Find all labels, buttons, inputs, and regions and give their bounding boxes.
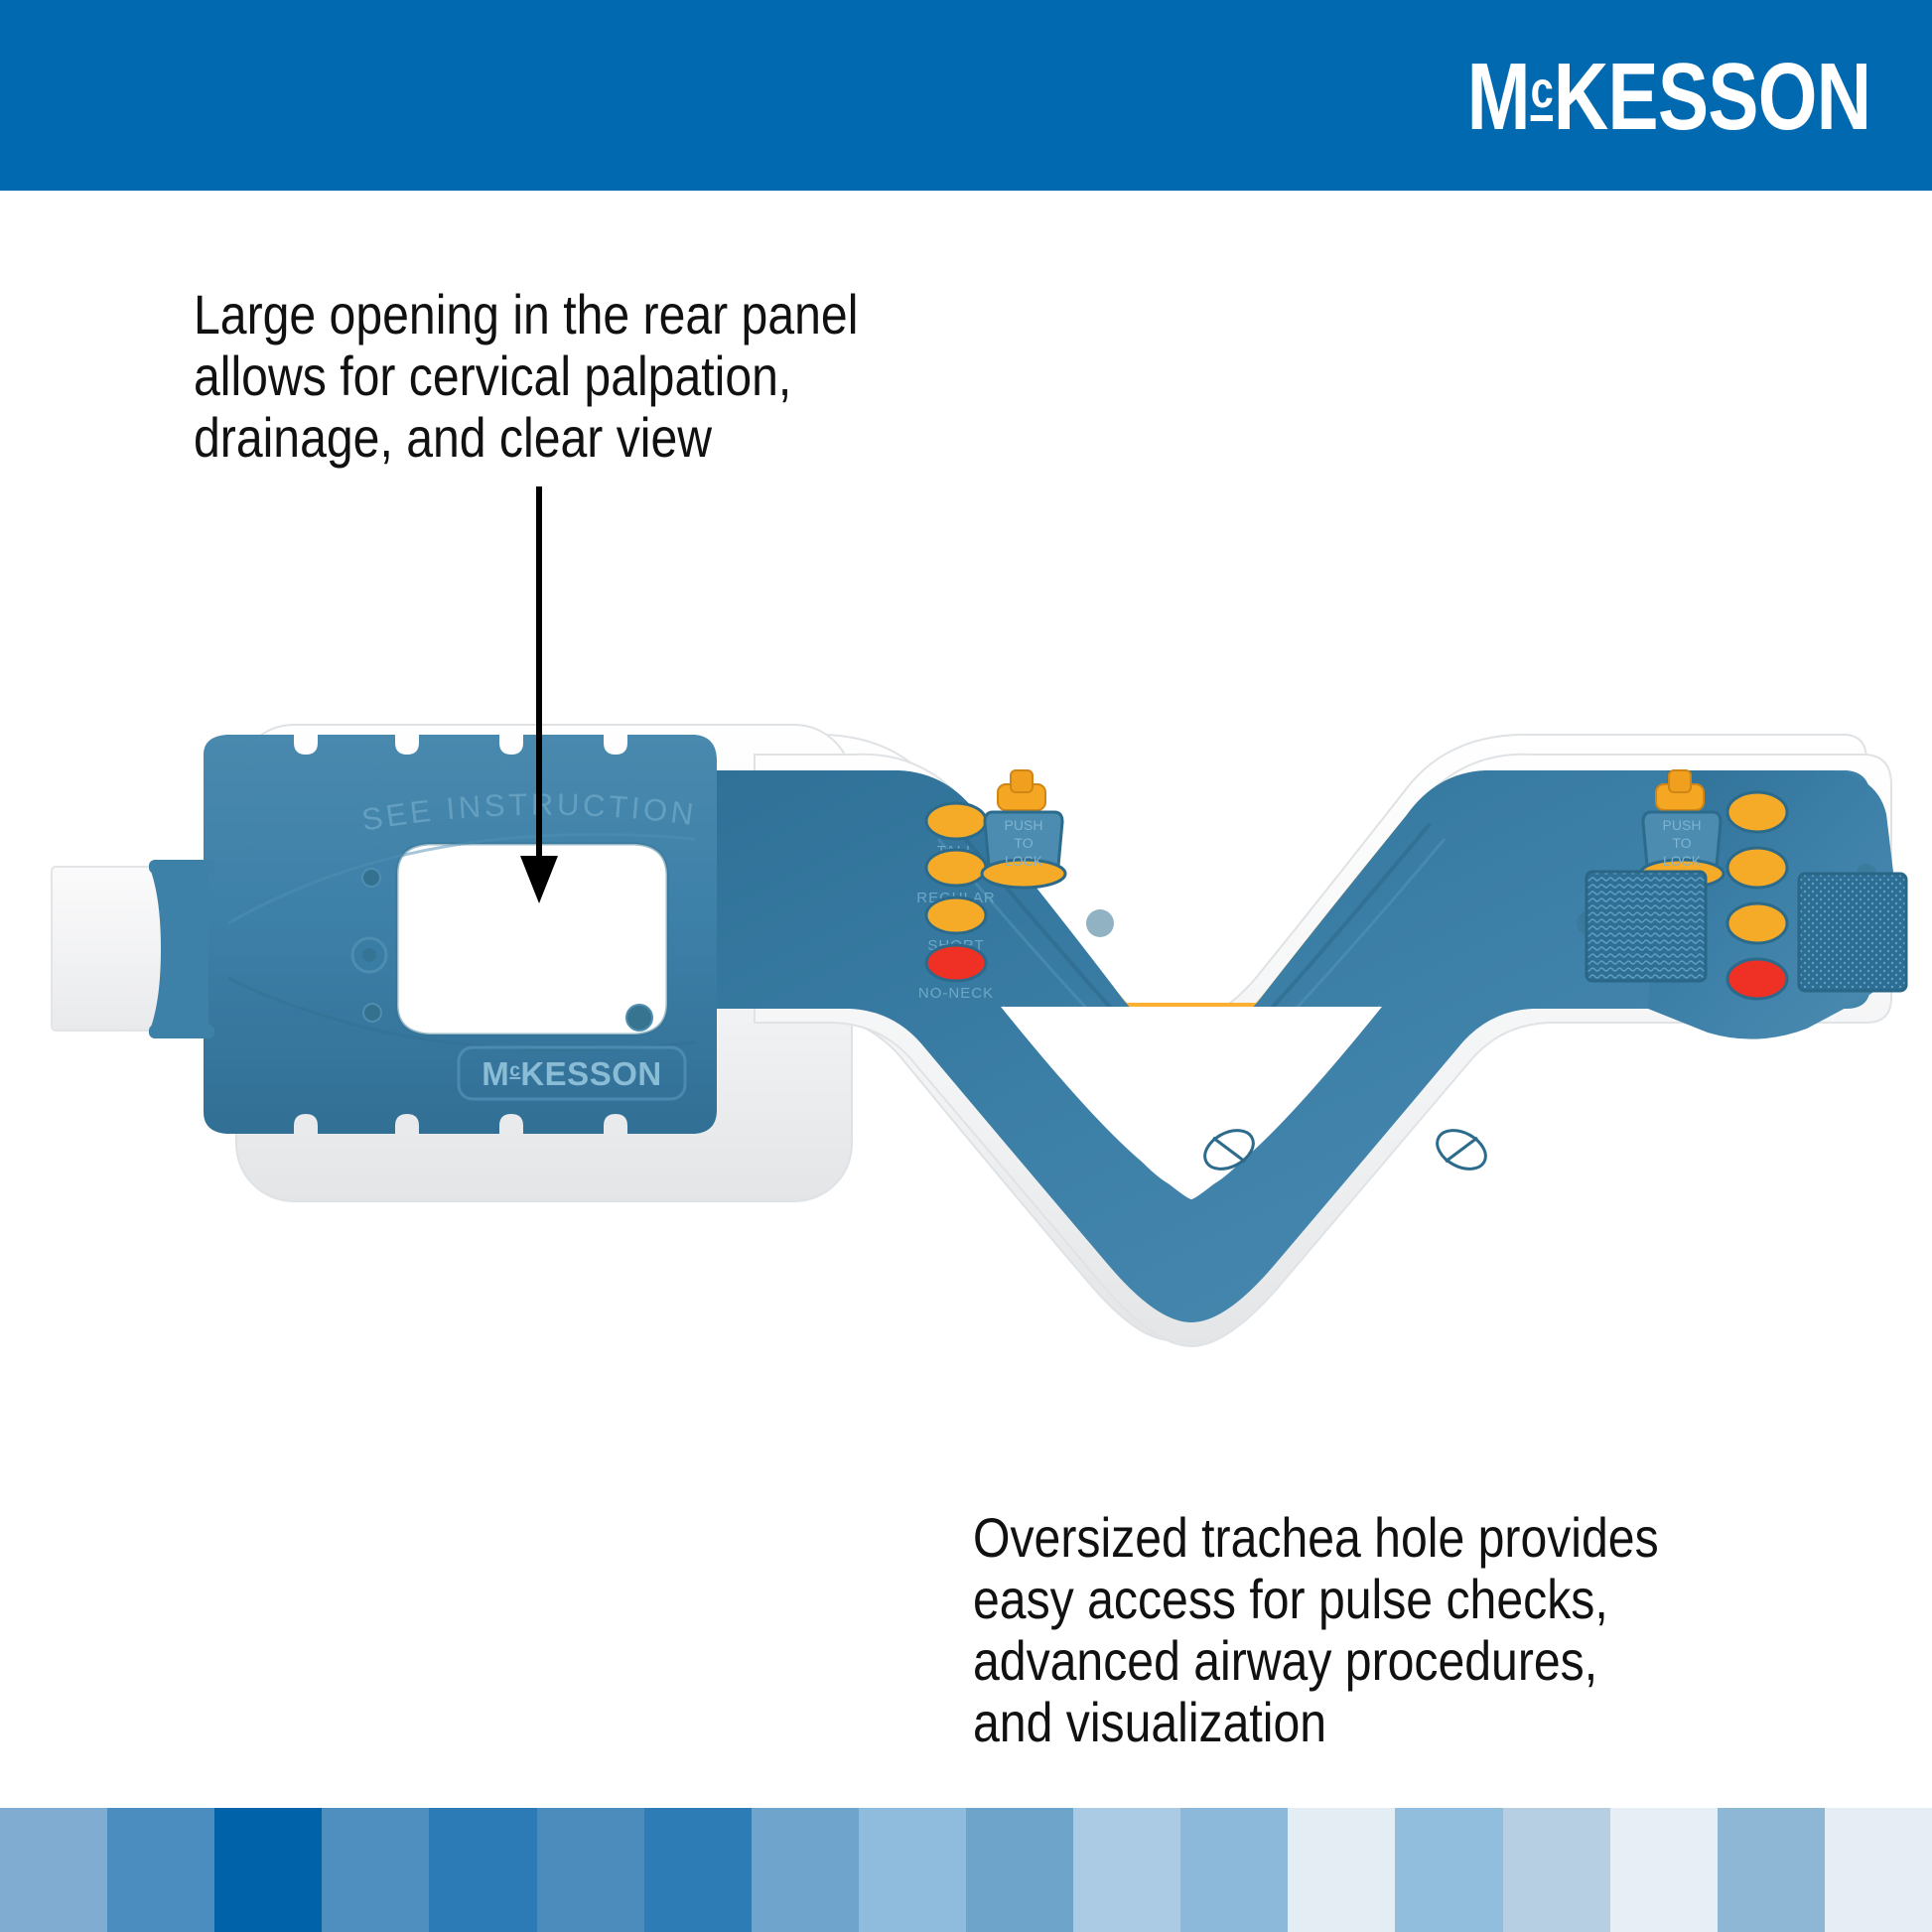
size-label-no-neck: NO-NECK: [918, 985, 994, 1002]
size-indicator-cluster-left: TALL REGULAR SHORT NO-NECK: [916, 803, 996, 1002]
embossed-brand-text: McKESSON: [482, 1055, 661, 1092]
swatch-6: [537, 1808, 644, 1932]
chin-support-orange: [834, 794, 1549, 1137]
swatch-17: [1718, 1808, 1825, 1932]
lower-vent-slot-left: [1198, 1123, 1260, 1176]
size-label-short: SHORT: [927, 937, 984, 954]
swatch-8: [752, 1808, 859, 1932]
callout-arrow-rear-panel: [520, 486, 558, 903]
swatch-15: [1503, 1808, 1610, 1932]
callout-rear-panel-opening: Large opening in the rear panel allows f…: [194, 284, 858, 469]
swatch-18: [1825, 1808, 1932, 1932]
lock-label-line1: PUSH: [1005, 817, 1043, 833]
swatch-2: [107, 1808, 214, 1932]
swatch-1: [0, 1808, 107, 1932]
brand-header-bar: McKESSON: [0, 0, 1932, 191]
push-to-lock-slider-left[interactable]: PUSH TO LOCK: [982, 770, 1065, 888]
embossed-brand-plaque: McKESSON: [459, 1047, 685, 1099]
collar-strap: [52, 867, 222, 1031]
footer-color-swatch-strip: [0, 1808, 1932, 1932]
front-panel-shell: TALL REGULAR SHORT NO-NECK PUSH TO LOCK: [717, 770, 1906, 1322]
swatch-7: [644, 1808, 752, 1932]
size-label-regular: REGULAR: [916, 890, 996, 906]
collar-foam-padding: [236, 725, 1891, 1346]
mckesson-logo: McKESSON: [1466, 50, 1870, 145]
lock-label-line2: TO: [1014, 835, 1033, 851]
swatch-11: [1073, 1808, 1180, 1932]
swatch-3: [214, 1808, 322, 1932]
swatch-4: [322, 1808, 429, 1932]
swatch-5: [429, 1808, 536, 1932]
swatch-16: [1610, 1808, 1718, 1932]
callout-trachea-hole: Oversized trachea hole provides easy acc…: [973, 1507, 1659, 1753]
lower-vent-slot-right: [1431, 1123, 1492, 1176]
swatch-10: [966, 1808, 1073, 1932]
hook-loop-patch-right: [1799, 874, 1906, 991]
push-to-lock-slider-right[interactable]: PUSH TO LOCK: [1640, 770, 1724, 888]
swatch-9: [859, 1808, 966, 1932]
hook-loop-patch-left: [1587, 872, 1706, 981]
logo-letter-m: M: [1466, 44, 1529, 150]
logo-superscript-c: c: [1530, 68, 1552, 121]
swatch-12: [1180, 1808, 1288, 1932]
lock-label-right-line1: PUSH: [1663, 817, 1702, 833]
lock-label-right-line3: LOCK: [1663, 853, 1702, 869]
rear-panel-adjust-slot: [779, 925, 819, 985]
size-label-tall: TALL: [937, 843, 976, 860]
lock-label-right-line2: TO: [1672, 835, 1691, 851]
size-indicator-cluster-right: [1727, 792, 1787, 999]
swatch-13: [1288, 1808, 1395, 1932]
logo-letters-kesson: KESSON: [1553, 44, 1870, 150]
product-feature-graphic: McKESSON Large opening in the rear panel…: [0, 0, 1932, 1932]
lock-label-line3: LOCK: [1005, 853, 1043, 869]
swatch-14: [1395, 1808, 1502, 1932]
